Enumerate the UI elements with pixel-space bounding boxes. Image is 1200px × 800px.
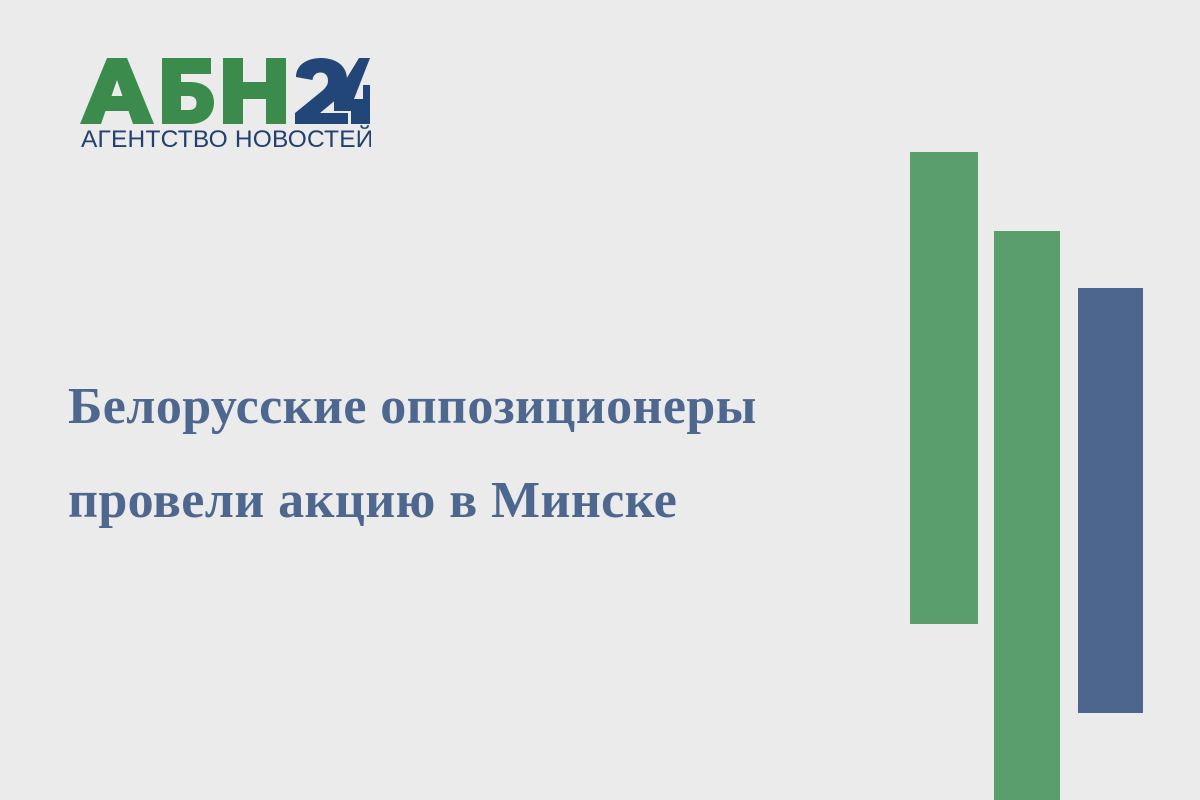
news-card-canvas: АГЕНТСТВО НОВОСТЕЙ Белорусские оппозицио…	[0, 0, 1200, 800]
headline-line-1: Белорусские оппозиционеры	[68, 360, 878, 454]
logo-letter-a-icon	[80, 58, 154, 124]
logo-tagline-icon: АГЕНТСТВО НОВОСТЕЙ	[81, 124, 371, 154]
logo-wordmark-icon	[80, 58, 370, 124]
chart-bar-2	[994, 231, 1060, 800]
page-title: Белорусские оппозиционеры провели акцию …	[68, 360, 878, 548]
logo-letter-be-icon	[162, 58, 214, 124]
logo-tagline-text: АГЕНТСТВО НОВОСТЕЙ	[81, 125, 371, 153]
logo-letter-en-icon	[223, 58, 286, 124]
abn24-logo[interactable]: АГЕНТСТВО НОВОСТЕЙ	[80, 58, 380, 163]
chart-bar-3	[1078, 288, 1143, 713]
chart-bar-1	[910, 152, 978, 624]
headline-line-2: провели акцию в Минске	[68, 454, 878, 548]
